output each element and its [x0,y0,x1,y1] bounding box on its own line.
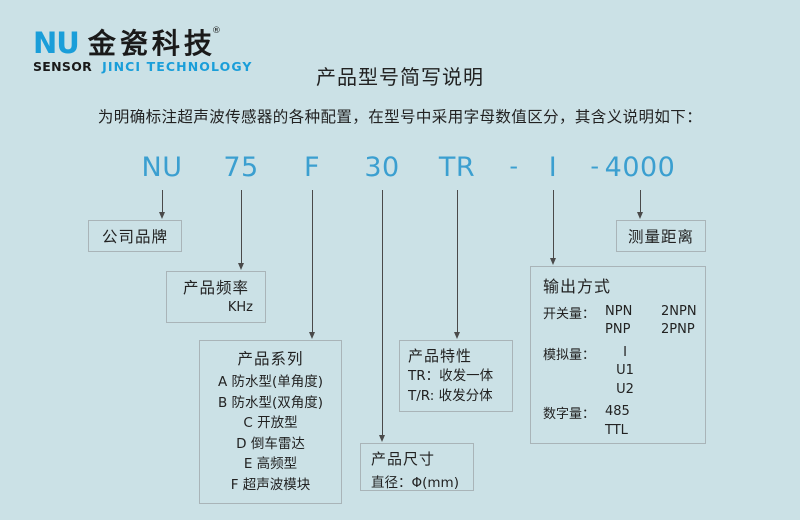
legend-box-series-title: 产品系列 [206,347,335,369]
connector-line-distance [640,190,641,213]
logo-chinese-name: 金瓷科技 ® [88,31,216,58]
output-row: PNP 2PNP [605,321,697,339]
connector-line-series [312,190,313,333]
output-value-2pnp: 2PNP [661,321,695,339]
legend-box-feature-line2: T/R: 收发分体 [408,386,512,406]
model-token-f: F [304,152,320,183]
output-value-i: I [605,344,645,362]
output-group-digital: 数字量： 485 TTL [543,403,705,440]
registered-trademark-icon: ® [212,27,225,36]
output-row: TTL [605,422,661,440]
connector-line-brand [162,190,163,213]
output-group-digital-label: 数字量： [543,403,605,422]
logo-chinese-text: 金瓷科技 [88,27,216,60]
arrow-icon-series [309,332,315,339]
legend-box-feature-title: 产品特性 [408,345,512,366]
legend-box-distance-title: 测量距离 [628,225,694,247]
model-token-dash1: - [509,152,518,180]
output-value-npn: NPN [605,303,661,321]
series-item-e: E 高频型 [206,454,335,475]
logo-top-row: NU 金瓷科技 ® [33,30,216,58]
legend-box-size: 产品尺寸 直径：Φ(mm) [360,443,474,491]
model-token-30: 30 [364,152,399,183]
connector-line-size [382,190,383,436]
output-group-switch: 开关量： NPN 2NPN PNP 2PNP [543,303,705,340]
connector-line-feature [457,190,458,333]
legend-box-frequency-unit: KHz [175,300,257,315]
output-value-485: 485 [605,403,661,421]
output-value-ttl: TTL [605,422,661,440]
legend-box-feature: 产品特性 TR：收发一体 T/R: 收发分体 [399,340,513,412]
arrow-icon-brand [159,212,165,219]
output-group-switch-values: NPN 2NPN PNP 2PNP [605,303,697,340]
output-row: I [605,344,645,362]
legend-box-brand-title: 公司品牌 [102,225,168,247]
arrow-icon-distance [637,212,643,219]
output-row: U2 [605,381,645,399]
output-row: 485 [605,403,661,421]
legend-box-size-title: 产品尺寸 [371,448,473,469]
output-value-u1: U1 [605,362,645,380]
output-group-digital-values: 485 TTL [605,403,661,440]
output-row: NPN 2NPN [605,303,697,321]
page-subtitle: 为明确标注超声波传感器的各种配置，在型号中采用字母数值区分，其含义说明如下： [0,105,800,127]
model-code-row: NU 75 F 30 TR - I - 4000 [0,152,800,190]
arrow-icon-size [379,435,385,442]
page-title: 产品型号简写说明 [0,61,800,90]
arrow-icon-output [550,258,556,265]
model-token-dash2: - [590,152,599,180]
output-group-switch-label: 开关量： [543,303,605,322]
legend-box-feature-line1: TR：收发一体 [408,366,512,386]
output-group-analog-values: I U1 U2 [605,344,645,399]
arrow-icon-frequency [238,263,244,270]
series-item-a: A 防水型(单角度) [206,372,335,393]
model-token-tr: TR [439,152,475,183]
model-token-nu: NU [142,152,183,183]
output-group-analog: 模拟量： I U1 U2 [543,344,705,399]
output-group-analog-label: 模拟量： [543,344,605,363]
legend-box-output-title: 输出方式 [543,273,705,297]
legend-box-frequency-title: 产品频率 [175,276,257,298]
output-value-pnp: PNP [605,321,661,339]
connector-line-frequency [241,190,242,264]
output-value-2npn: 2NPN [661,303,697,321]
legend-box-brand: 公司品牌 [88,220,182,252]
series-item-f: F 超声波模块 [206,475,335,496]
connector-line-output [553,190,554,259]
legend-box-series: 产品系列 A 防水型(单角度) B 防水型(双角度) C 开放型 D 倒车雷达 … [199,340,342,504]
legend-box-output: 输出方式 开关量： NPN 2NPN PNP 2PNP 模拟量： I [530,266,706,444]
legend-box-size-detail: 直径：Φ(mm) [371,471,473,491]
series-item-d: D 倒车雷达 [206,434,335,455]
model-token-4000: 4000 [605,152,676,183]
output-row: U1 [605,362,645,380]
arrow-icon-feature [454,332,460,339]
logo-nu-mark: NU [33,30,79,58]
series-item-c: C 开放型 [206,413,335,434]
diagram-canvas: NU 金瓷科技 ® SENSOR JINCI TECHNOLOGY 产品型号简写… [0,0,800,520]
legend-box-frequency: 产品频率 KHz [166,271,266,323]
legend-box-distance: 测量距离 [616,220,706,252]
output-value-u2: U2 [605,381,645,399]
model-token-75: 75 [223,152,258,183]
series-item-b: B 防水型(双角度) [206,393,335,414]
model-token-i: I [549,152,557,183]
